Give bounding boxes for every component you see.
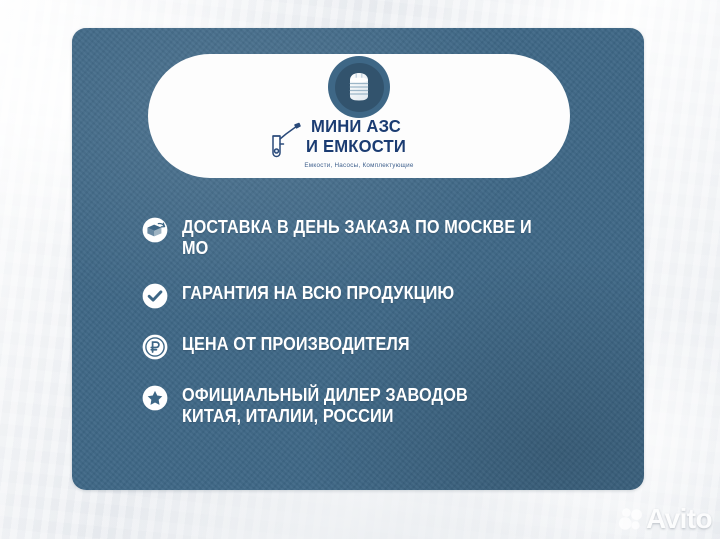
fuel-tank-glyph [344, 71, 374, 103]
benefit-item-dealer: ОФИЦИАЛЬНЫЙ ДИЛЕР ЗАВОДОВ КИТАЯ, ИТАЛИИ,… [142, 384, 612, 426]
avito-watermark: Avito [617, 505, 712, 533]
ruble-coin-icon [142, 334, 168, 360]
delivery-truck-icon [142, 217, 168, 243]
fuel-tank-emblem [328, 56, 390, 118]
promo-card: МИНИ АЗС И ЕМКОСТИ Емкости, Насосы, Комп… [72, 28, 644, 490]
star-circle-icon [142, 385, 168, 411]
brand-logo: МИНИ АЗС И ЕМКОСТИ Емкости, Насосы, Комп… [229, 60, 489, 172]
benefit-item-price: ЦЕНА ОТ ПРОИЗВОДИТЕЛЯ [142, 333, 612, 360]
fuel-nozzle-icon [264, 120, 304, 160]
logo-panel: МИНИ АЗС И ЕМКОСТИ Емкости, Насосы, Комп… [148, 54, 570, 178]
avito-dots-icon [617, 506, 643, 532]
avito-wordmark: Avito [646, 505, 712, 533]
brand-line-1: МИНИ АЗС [306, 118, 406, 136]
benefits-list: ДОСТАВКА В ДЕНЬ ЗАКАЗА ПО МОСКВЕ И МО ГА… [142, 216, 612, 426]
benefit-label: ЦЕНА ОТ ПРОИЗВОДИТЕЛЯ [182, 333, 410, 354]
benefit-label: ДОСТАВКА В ДЕНЬ ЗАКАЗА ПО МОСКВЕ И МО [182, 216, 560, 258]
check-circle-icon [142, 283, 168, 309]
benefit-label: ГАРАНТИЯ НА ВСЮ ПРОДУКЦИЮ [182, 282, 454, 303]
fuel-tank-icon [335, 63, 384, 112]
brand-wordmark: МИНИ АЗС И ЕМКОСТИ Емкости, Насосы, Комп… [229, 118, 489, 169]
advertisement-image: МИНИ АЗС И ЕМКОСТИ Емкости, Насосы, Комп… [0, 0, 720, 539]
benefit-label: ОФИЦИАЛЬНЫЙ ДИЛЕР ЗАВОДОВ КИТАЯ, ИТАЛИИ,… [182, 384, 468, 426]
brand-line-2: И ЕМКОСТИ [306, 138, 406, 156]
benefit-item-delivery: ДОСТАВКА В ДЕНЬ ЗАКАЗА ПО МОСКВЕ И МО [142, 216, 612, 258]
benefit-item-warranty: ГАРАНТИЯ НА ВСЮ ПРОДУКЦИЮ [142, 282, 612, 309]
brand-tagline: Емкости, Насосы, Комплектующие [229, 162, 489, 169]
